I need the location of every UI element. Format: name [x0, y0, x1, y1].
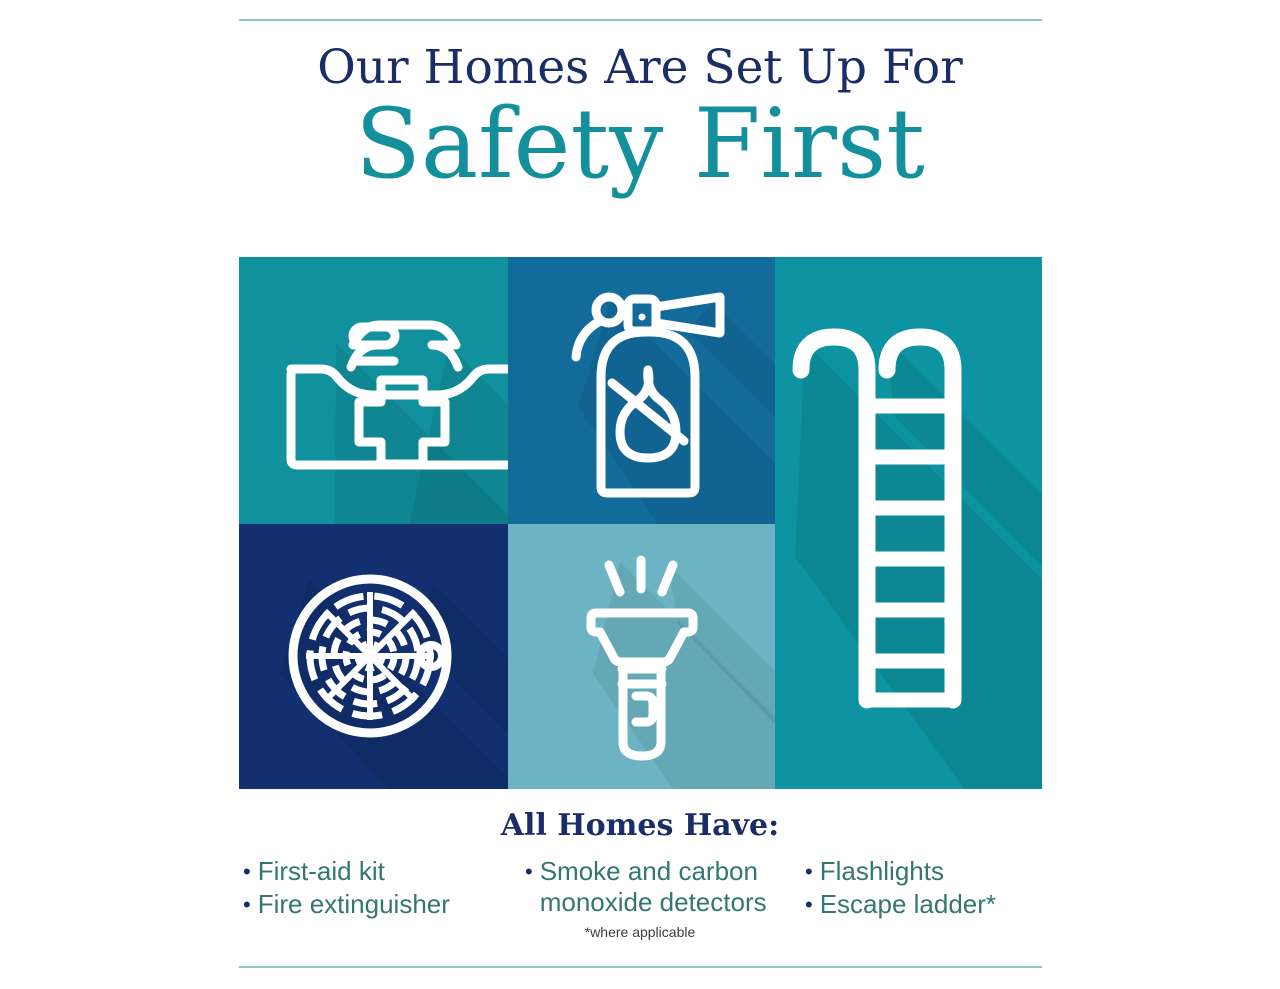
checklist-columns: • First-aid kit • Fire extinguisher • Sm…	[239, 856, 1042, 920]
list-item: • Smoke and carbon monoxide detectors	[525, 856, 793, 918]
escape-ladder-icon	[775, 257, 1042, 789]
icon-grid	[239, 257, 1042, 789]
checklist-column-3: • Flashlights • Escape ladder*	[793, 856, 1058, 920]
tile-flashlight	[508, 524, 775, 789]
list-item: • First-aid kit	[243, 856, 521, 887]
list-item-label: Escape ladder*	[820, 889, 996, 920]
bullet-icon: •	[525, 856, 533, 887]
list-item-label-line1: Smoke and carbon	[540, 856, 758, 886]
list-item-label: First-aid kit	[258, 856, 385, 887]
fire-extinguisher-icon	[508, 257, 775, 524]
safety-infographic: Our Homes Are Set Up For Safety First	[0, 0, 1280, 989]
list-item: • Flashlights	[805, 856, 1058, 887]
tile-escape-ladder	[775, 257, 1042, 789]
checklist-column-1: • First-aid kit • Fire extinguisher	[239, 856, 521, 920]
bottom-divider-rule	[239, 966, 1042, 968]
bullet-icon: •	[243, 889, 251, 920]
bullet-icon: •	[805, 856, 813, 887]
page-title: Our Homes Are Set Up For Safety First	[0, 40, 1280, 198]
checklist-column-2: • Smoke and carbon monoxide detectors	[521, 856, 793, 918]
bullet-icon: •	[805, 889, 813, 920]
tile-first-aid-kit	[239, 257, 508, 524]
section-heading: All Homes Have:	[0, 808, 1280, 843]
top-divider-rule	[239, 19, 1042, 21]
list-item-label-line2: monoxide detectors	[540, 887, 767, 918]
list-item: • Fire extinguisher	[243, 889, 521, 920]
smoke-detector-icon	[239, 524, 508, 789]
first-aid-kit-icon	[239, 257, 508, 524]
list-item-label: Flashlights	[820, 856, 944, 887]
tile-fire-extinguisher	[508, 257, 775, 524]
list-item-label: Smoke and carbon monoxide detectors	[540, 856, 767, 918]
list-item-label: Fire extinguisher	[258, 889, 450, 920]
bullet-icon: •	[243, 856, 251, 887]
flashlight-icon	[508, 524, 775, 789]
title-line-2: Safety First	[0, 90, 1280, 198]
list-item: • Escape ladder*	[805, 889, 1058, 920]
tile-smoke-detector	[239, 524, 508, 789]
footnote: *where applicable	[0, 924, 1280, 940]
